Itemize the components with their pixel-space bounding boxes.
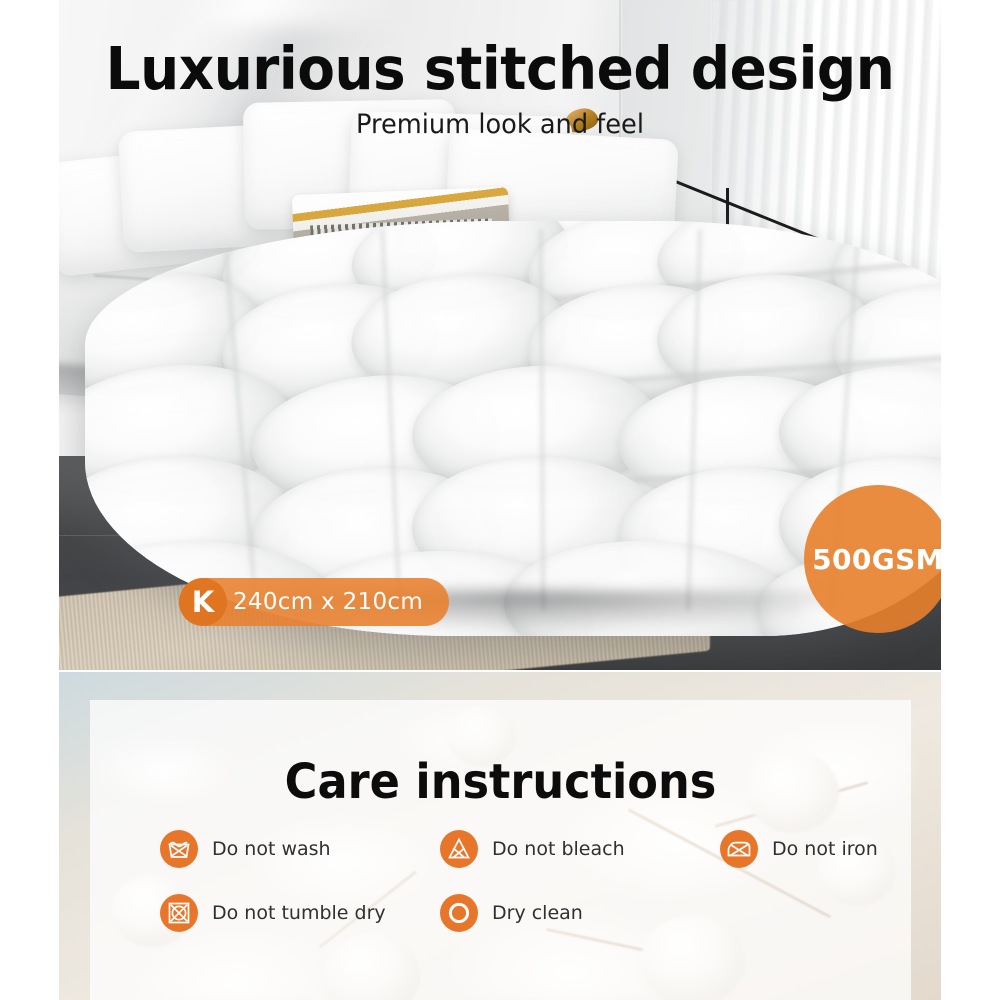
do-not-bleach-icon (440, 830, 478, 868)
care-items-grid: Do not wash Do not bleach (160, 830, 860, 932)
page-title: Luxurious stitched design (90, 34, 910, 103)
product-listing-image: Luxurious stitched design Premium look a… (0, 0, 1000, 1000)
do-not-wash-icon (160, 830, 198, 868)
care-item-do-not-tumble-dry: Do not tumble dry (160, 894, 440, 932)
do-not-iron-icon (720, 830, 758, 868)
care-item-label: Do not tumble dry (212, 902, 386, 924)
size-dimensions: 240cm x 210cm (233, 589, 423, 615)
care-item-label: Do not iron (772, 838, 878, 860)
hero-product-photo: Luxurious stitched design Premium look a… (59, 0, 941, 670)
page-subtitle: Premium look and feel (81, 109, 919, 140)
care-item-do-not-bleach: Do not bleach (440, 830, 720, 868)
dry-clean-icon (440, 894, 478, 932)
care-item-label: Do not wash (212, 838, 331, 860)
care-title: Care instructions (119, 754, 883, 810)
care-instructions-section: Care instructions Do not wash (59, 672, 941, 1000)
care-item-do-not-iron: Do not iron (720, 830, 878, 868)
care-item-label: Do not bleach (492, 838, 625, 860)
care-item-label: Dry clean (492, 902, 583, 924)
care-item-do-not-wash: Do not wash (160, 830, 440, 868)
size-code: K (179, 578, 227, 626)
size-badge: K 240cm x 210cm (179, 578, 449, 626)
gsm-badge: 500GSM (804, 485, 941, 633)
care-panel: Care instructions Do not wash (90, 700, 911, 1000)
do-not-tumble-dry-icon (160, 894, 198, 932)
care-item-dry-clean: Dry clean (440, 894, 720, 932)
